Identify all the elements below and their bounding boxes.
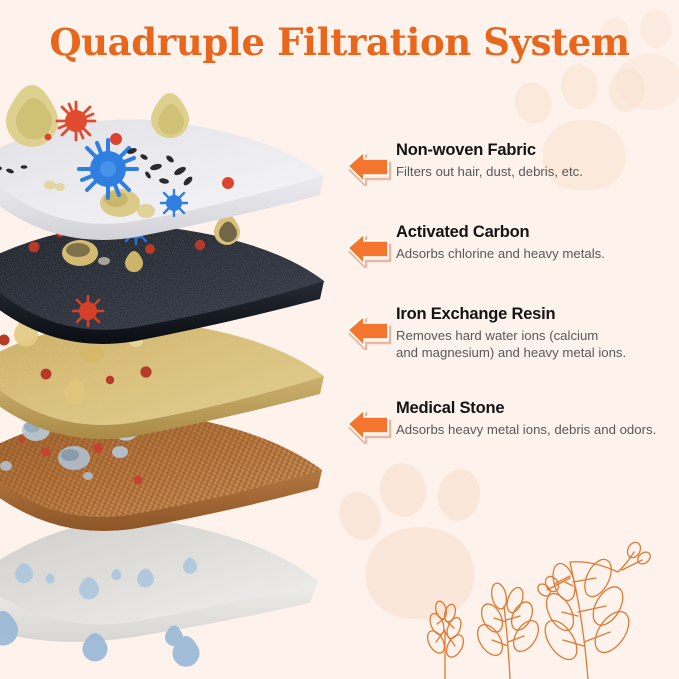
infographic-canvas: Quadruple Filtration System [0,0,679,679]
callout-description: Filters out hair, dust, debris, etc. [396,164,679,181]
paw-print-icon [340,455,555,645]
left-arrow-icon [341,310,393,350]
callout-description-line2: and magnesium) and heavy metal ions. [396,345,679,362]
callout-heading: Medical Stone [396,398,679,419]
callout-heading: Activated Carbon [396,222,679,243]
non-woven-fabric-layer [0,97,328,277]
left-arrow-icon [341,146,393,186]
callout-text: Non-woven Fabric Filters out hair, dust,… [396,140,679,181]
botanical-sprig-large-icon [535,540,652,679]
callout-heading: Non-woven Fabric [396,140,679,161]
botanical-sprig-medium-icon [473,582,544,679]
botanical-decoration [420,520,679,679]
filter-layer-stack [0,95,333,655]
callout-description-line1: Removes hard water ions (calcium [396,328,598,343]
callout-description: Removes hard water ions (calcium and mag… [396,328,679,361]
callout-description-line1: Adsorbs heavy metal ions, debris and odo… [396,422,656,437]
callout-text: Activated Carbon Adsorbs chlorine and he… [396,222,679,263]
callout-description: Adsorbs chlorine and heavy metals. [396,246,679,263]
callout-heading: Iron Exchange Resin [396,304,679,325]
callout-item[interactable]: Iron Exchange Resin Removes hard water i… [338,304,679,376]
callout-text: Iron Exchange Resin Removes hard water i… [396,304,679,361]
left-arrow-icon [341,404,393,444]
page-title: Quadruple Filtration System [0,20,679,64]
left-arrow-icon [341,228,393,268]
callout-description-line1: Filters out hair, dust, debris, etc. [396,164,583,179]
callout-item[interactable]: Activated Carbon Adsorbs chlorine and he… [338,222,679,294]
botanical-sprig-small-icon [424,600,467,679]
callout-description-line1: Adsorbs chlorine and heavy metals. [396,246,605,261]
callout-item[interactable]: Non-woven Fabric Filters out hair, dust,… [338,140,679,212]
callout-item[interactable]: Medical Stone Adsorbs heavy metal ions, … [338,398,679,470]
callout-description: Adsorbs heavy metal ions, debris and odo… [396,422,679,439]
callout-text: Medical Stone Adsorbs heavy metal ions, … [396,398,679,439]
